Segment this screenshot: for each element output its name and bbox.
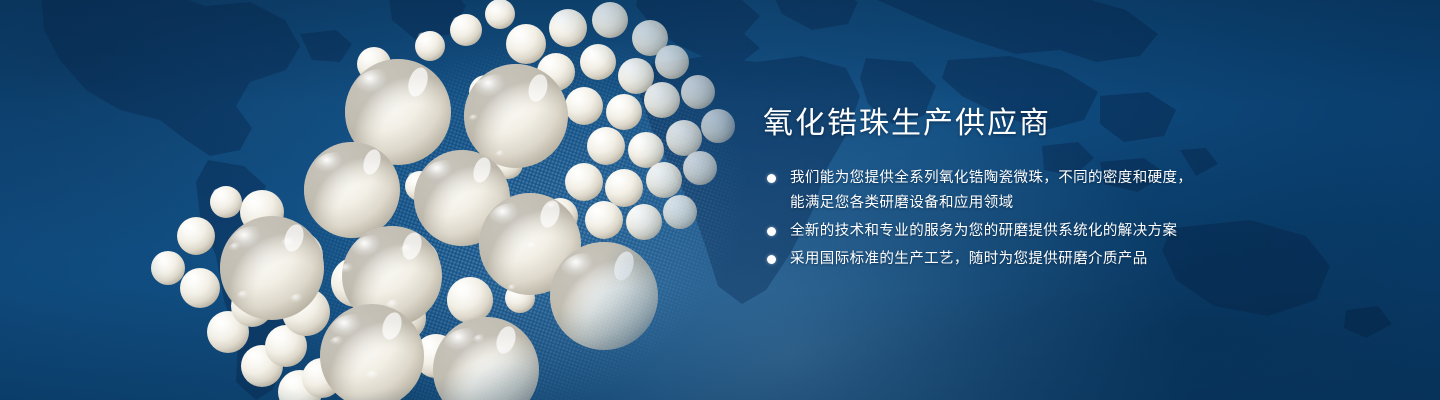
banner-copy: 氧化锆珠生产供应商 我们能为您提供全系列氧化锆陶瓷微珠，不同的密度和硬度， 能满… bbox=[763, 104, 1233, 272]
feature-item-2: 全新的技术和专业的服务为您的研磨提供系统化的解决方案 bbox=[763, 219, 1233, 244]
feature-list: 我们能为您提供全系列氧化锆陶瓷微珠，不同的密度和硬度， 能满足您各类研磨设备和应… bbox=[763, 166, 1233, 272]
feature-item-1: 我们能为您提供全系列氧化锆陶瓷微珠，不同的密度和硬度， 能满足您各类研磨设备和应… bbox=[763, 166, 1233, 216]
feature-item-3: 采用国际标准的生产工艺，随时为您提供研磨介质产品 bbox=[763, 247, 1233, 272]
feature-item-1-line-2: 能满足您各类研磨设备和应用领域 bbox=[790, 191, 1233, 216]
bullet-dot-icon bbox=[767, 227, 776, 236]
feature-item-1-line-1: 我们能为您提供全系列氧化锆陶瓷微珠，不同的密度和硬度， bbox=[790, 166, 1233, 191]
bullet-dot-icon bbox=[767, 255, 776, 264]
bullet-dot-icon bbox=[767, 174, 776, 183]
headline: 氧化锆珠生产供应商 bbox=[763, 104, 1233, 144]
hero-banner: 氧化锆珠生产供应商 我们能为您提供全系列氧化锆陶瓷微珠，不同的密度和硬度， 能满… bbox=[0, 0, 1440, 400]
feature-item-3-line-1: 采用国际标准的生产工艺，随时为您提供研磨介质产品 bbox=[790, 247, 1233, 272]
feature-item-2-line-1: 全新的技术和专业的服务为您的研磨提供系统化的解决方案 bbox=[790, 219, 1233, 244]
product-image-zirconia-beads bbox=[0, 0, 760, 400]
